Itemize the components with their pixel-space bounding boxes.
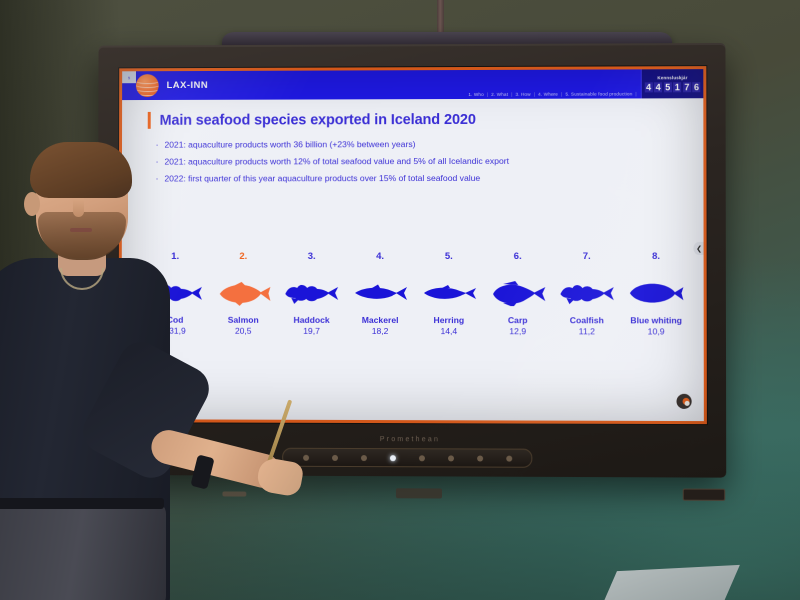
- display-button-freeze[interactable]: [477, 455, 483, 461]
- species-value: 10,9: [624, 326, 689, 336]
- presenter: [0, 140, 310, 600]
- display-button-bar[interactable]: [282, 448, 532, 468]
- species-name: Blue whiting: [624, 315, 689, 325]
- species-value: 12,9: [486, 326, 550, 336]
- presenter-mouth: [70, 228, 92, 232]
- nav-separator: |: [511, 92, 512, 97]
- species-name: Herring: [417, 315, 481, 325]
- nav-item-what[interactable]: 2. What: [491, 92, 508, 97]
- species-cell-herring[interactable]: 5.Herring14,4: [417, 251, 481, 336]
- nav-item-who[interactable]: 1. Who: [468, 92, 483, 97]
- display-button-home[interactable]: [389, 455, 395, 461]
- counter-digit-2: 5: [664, 82, 672, 92]
- counter-digit-0: 4: [644, 82, 652, 92]
- counter-badge: Kennsluskjár 445176: [641, 69, 704, 98]
- species-cell-carp[interactable]: 6.Carp12,9: [486, 251, 550, 336]
- presenter-ear: [24, 192, 40, 216]
- nav-separator: |: [487, 92, 488, 97]
- presenter-nose: [73, 198, 84, 217]
- nav-item-how[interactable]: 3. How: [515, 92, 530, 97]
- species-value: 14,4: [417, 326, 481, 336]
- species-name: Carp: [486, 315, 550, 325]
- slide-nav[interactable]: 1. Who | 2. What | 3. How | 4. Where | 5…: [468, 91, 636, 97]
- lax-inn-mark-icon[interactable]: [676, 394, 691, 409]
- species-rank: 4.: [348, 251, 412, 262]
- salmon-wave-circle-icon: [136, 74, 159, 97]
- species-rank: 8.: [624, 251, 689, 262]
- counter-digit-4: 7: [683, 82, 691, 92]
- display-button-volume-down[interactable]: [418, 455, 424, 461]
- presenter-arm: [98, 350, 248, 550]
- chevron-left-icon[interactable]: ❮: [693, 242, 704, 255]
- nav-item-where[interactable]: 4. Where: [538, 92, 558, 97]
- species-name: Coalfish: [555, 315, 619, 325]
- counter-digit-5: 6: [692, 82, 700, 92]
- fish-mackerel-icon: [348, 278, 412, 308]
- counter-digit-1: 4: [654, 82, 662, 92]
- page-title: Main seafood species exported in Iceland…: [160, 111, 476, 128]
- fish-cod-icon: [555, 278, 619, 308]
- species-cell-blue-whiting[interactable]: 8.Blue whiting10,9: [624, 251, 689, 337]
- display-port-panel: [683, 489, 726, 501]
- species-cell-mackerel[interactable]: 4.Mackerel18,2: [348, 251, 412, 336]
- nav-item-sustainable-food-production[interactable]: 5. Sustainable food production: [565, 91, 632, 96]
- species-rank: 6.: [486, 251, 550, 262]
- title-accent-bar: [148, 112, 151, 129]
- nav-separator: |: [561, 92, 562, 97]
- display-stand-strip: [396, 488, 442, 498]
- species-value: 11,2: [555, 326, 619, 336]
- counter-label: Kennsluskjár: [657, 75, 687, 80]
- fish-carp-icon: [486, 278, 550, 308]
- presenter-hand: [255, 456, 304, 497]
- species-name: Mackerel: [348, 315, 412, 325]
- species-rank: 5.: [417, 251, 481, 262]
- brand-name: LAX-INN: [167, 80, 209, 91]
- presenter-beard: [38, 212, 126, 260]
- page-number-corner: 5: [122, 71, 136, 83]
- slide-header-bar: LAX-INN 1. Who | 2. What | 3. How | 4. W…: [122, 69, 703, 100]
- species-value: 18,2: [348, 326, 412, 336]
- display-button-source[interactable]: [360, 455, 366, 461]
- counter-digit-3: 1: [673, 82, 681, 92]
- species-rank: 7.: [555, 251, 619, 262]
- display-button-menu[interactable]: [332, 454, 338, 460]
- nav-separator: |: [534, 92, 535, 97]
- fish-herring-icon: [417, 278, 481, 308]
- laptop-screen: [596, 565, 740, 600]
- presenter-hair: [30, 142, 132, 198]
- display-button-volume-up[interactable]: [448, 455, 454, 461]
- slide-title-row: Main seafood species exported in Iceland…: [148, 110, 704, 129]
- counter-digits: 445176: [644, 82, 700, 92]
- species-cell-coalfish[interactable]: 7.Coalfish11,2: [555, 251, 620, 336]
- fish-whiting-icon: [624, 278, 689, 308]
- nav-separator: |: [635, 91, 636, 96]
- display-button-extra[interactable]: [506, 455, 512, 461]
- brand-logo[interactable]: LAX-INN: [136, 74, 208, 97]
